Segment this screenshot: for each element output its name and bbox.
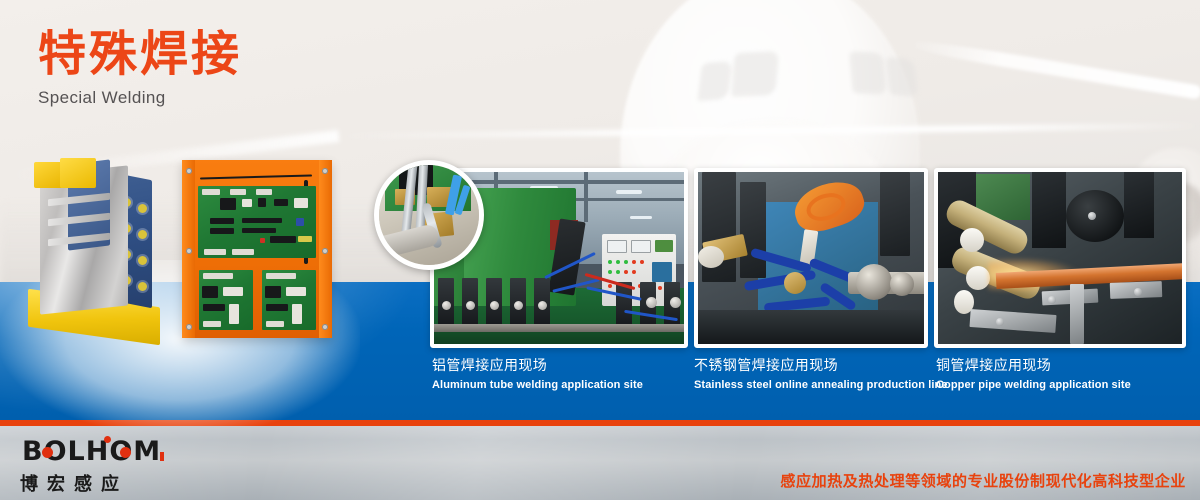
pcb-connector <box>202 189 220 195</box>
console-display <box>655 240 673 252</box>
brass-fitting <box>784 272 806 294</box>
pcb-chip <box>210 228 234 234</box>
transformer-mount-hole <box>138 256 147 265</box>
cabinet-screw <box>322 248 328 254</box>
caption-copper: 铜管焊接应用现场 Copper pipe welding application… <box>936 358 1131 392</box>
steel-post <box>1070 284 1084 344</box>
logo-chinese-name: 博宏感应 <box>20 470 220 496</box>
transformer-mount-hole <box>138 230 147 239</box>
mill-roller <box>670 297 681 308</box>
machine-column <box>740 182 766 278</box>
cabinet-wire <box>200 175 312 180</box>
caption-chinese: 铜管焊接应用现场 <box>936 358 1131 376</box>
pcb-chip <box>202 286 218 298</box>
footer-bar: BOLHOM 博宏感应 感应加热及热处理等领域的专业股份制现代化高科技型企业 <box>0 426 1200 500</box>
pcb-chip <box>296 218 304 226</box>
console-hmi-screen <box>652 262 672 282</box>
pcb-chip <box>265 286 281 298</box>
pcb-chip <box>270 236 296 243</box>
pcb-chip <box>229 304 239 324</box>
headline-block: 特殊焊接 Special Welding <box>38 28 242 108</box>
cabinet-screw <box>322 324 328 330</box>
cabinet-screw <box>186 248 192 254</box>
transformer-stack-photo <box>18 158 170 343</box>
caption-english: Stainless steel online annealing product… <box>694 378 948 392</box>
pcb-chip <box>203 304 225 311</box>
aircraft-right-wing <box>914 38 1200 100</box>
cabinet-screw <box>186 324 192 330</box>
driver-pcb <box>262 270 316 330</box>
logo-h-accent-dot <box>104 436 111 443</box>
pcb-chip <box>298 236 312 242</box>
ceiling-beam <box>584 172 588 222</box>
conveyor-rail <box>434 324 684 332</box>
cockpit-window <box>849 51 887 95</box>
console-led <box>616 270 620 274</box>
console-led <box>616 260 620 264</box>
caption-aluminum: 铝管焊接应用现场 Aluminum tube welding applicati… <box>432 358 643 392</box>
console-meter <box>631 240 651 253</box>
closeup-inset-circle <box>374 160 484 270</box>
pcb-chip <box>294 198 308 208</box>
cockpit-window <box>885 57 918 97</box>
pcb-connector <box>266 273 296 279</box>
caption-chinese: 不锈钢管焊接应用现场 <box>694 358 948 376</box>
driver-pcb <box>199 270 253 330</box>
machine-column <box>880 172 910 256</box>
transformer-yellow-cap <box>60 158 96 188</box>
cockpit-window <box>731 51 779 97</box>
pcb-connector <box>204 249 226 255</box>
console-led <box>640 260 644 264</box>
factory-floor <box>698 310 924 344</box>
console-led <box>608 284 612 288</box>
console-led <box>624 260 628 264</box>
machine-column <box>1124 172 1154 238</box>
pcb-chip <box>266 304 288 311</box>
logo-m-accent-tick <box>160 452 164 461</box>
pcb-chip <box>223 287 243 296</box>
caption-english: Copper pipe welding application site <box>936 378 1131 392</box>
company-logo[interactable]: BOLHOM 博宏感应 <box>20 438 220 496</box>
console-meter <box>607 240 627 253</box>
pcb-connector <box>266 321 284 327</box>
drive-wheel <box>890 272 914 296</box>
pcb-chip <box>242 218 282 223</box>
pcb-chip <box>260 238 265 243</box>
pcb-chip <box>220 198 236 210</box>
pcb-connector <box>232 249 254 255</box>
pcb-chip <box>242 199 252 207</box>
pcb-chip <box>258 198 266 207</box>
application-photo-stainless <box>694 168 928 348</box>
console-led <box>608 260 612 264</box>
logo-o-accent-dot <box>42 447 53 458</box>
product-showcase-group <box>0 150 360 335</box>
pcb-chip <box>292 304 302 324</box>
clamp-bolt <box>1048 296 1056 304</box>
company-slogan: 感应加热及热处理等领域的专业股份制现代化高科技型企业 <box>780 470 1186 491</box>
cabinet-screw <box>186 168 192 174</box>
machine-column <box>1032 172 1066 248</box>
transformer-mount-hole <box>138 282 147 291</box>
caption-chinese: 铝管焊接应用现场 <box>432 358 643 376</box>
pcb-chip <box>286 287 306 296</box>
pcb-connector <box>203 321 221 327</box>
mill-roller <box>646 297 657 308</box>
pcb-chip <box>242 228 276 233</box>
clamp-bolt <box>996 318 1004 326</box>
main-control-pcb <box>198 186 316 258</box>
drive-wheel <box>856 264 892 300</box>
headline-english: Special Welding <box>38 88 242 108</box>
console-led <box>632 260 636 264</box>
wheel-bolt <box>1088 212 1096 220</box>
mill-roller <box>514 301 523 310</box>
console-led <box>658 286 662 290</box>
application-photo-copper <box>934 168 1186 348</box>
mill-roller <box>466 301 475 310</box>
mill-roller <box>442 301 451 310</box>
caption-english: Aluminum tube welding application site <box>432 378 643 392</box>
console-led <box>624 270 628 274</box>
pcb-connector <box>203 273 233 279</box>
power-cabinet-photo <box>182 160 332 338</box>
cabinet-screw <box>322 168 328 174</box>
pcb-chip <box>210 218 234 224</box>
ceiling-light <box>616 190 642 194</box>
promotional-banner: 特殊焊接 Special Welding <box>0 0 1200 500</box>
ceramic-ring <box>966 266 990 290</box>
mill-roller <box>538 301 547 310</box>
headline-chinese: 特殊焊接 <box>38 28 242 82</box>
console-led <box>608 270 612 274</box>
clamp-bolt <box>1134 288 1142 296</box>
mill-roller <box>490 301 499 310</box>
pcb-chip <box>274 199 288 206</box>
ceramic-ring <box>960 228 984 252</box>
console-led <box>632 270 636 274</box>
ceramic-guide <box>698 246 724 268</box>
ceiling-light <box>630 216 652 219</box>
logo-o-accent-dot <box>120 447 131 458</box>
pcb-connector <box>230 189 246 195</box>
caption-stainless: 不锈钢管焊接应用现场 Stainless steel online anneal… <box>694 358 948 392</box>
transformer-mount-hole <box>138 204 147 213</box>
pcb-connector <box>256 189 272 195</box>
